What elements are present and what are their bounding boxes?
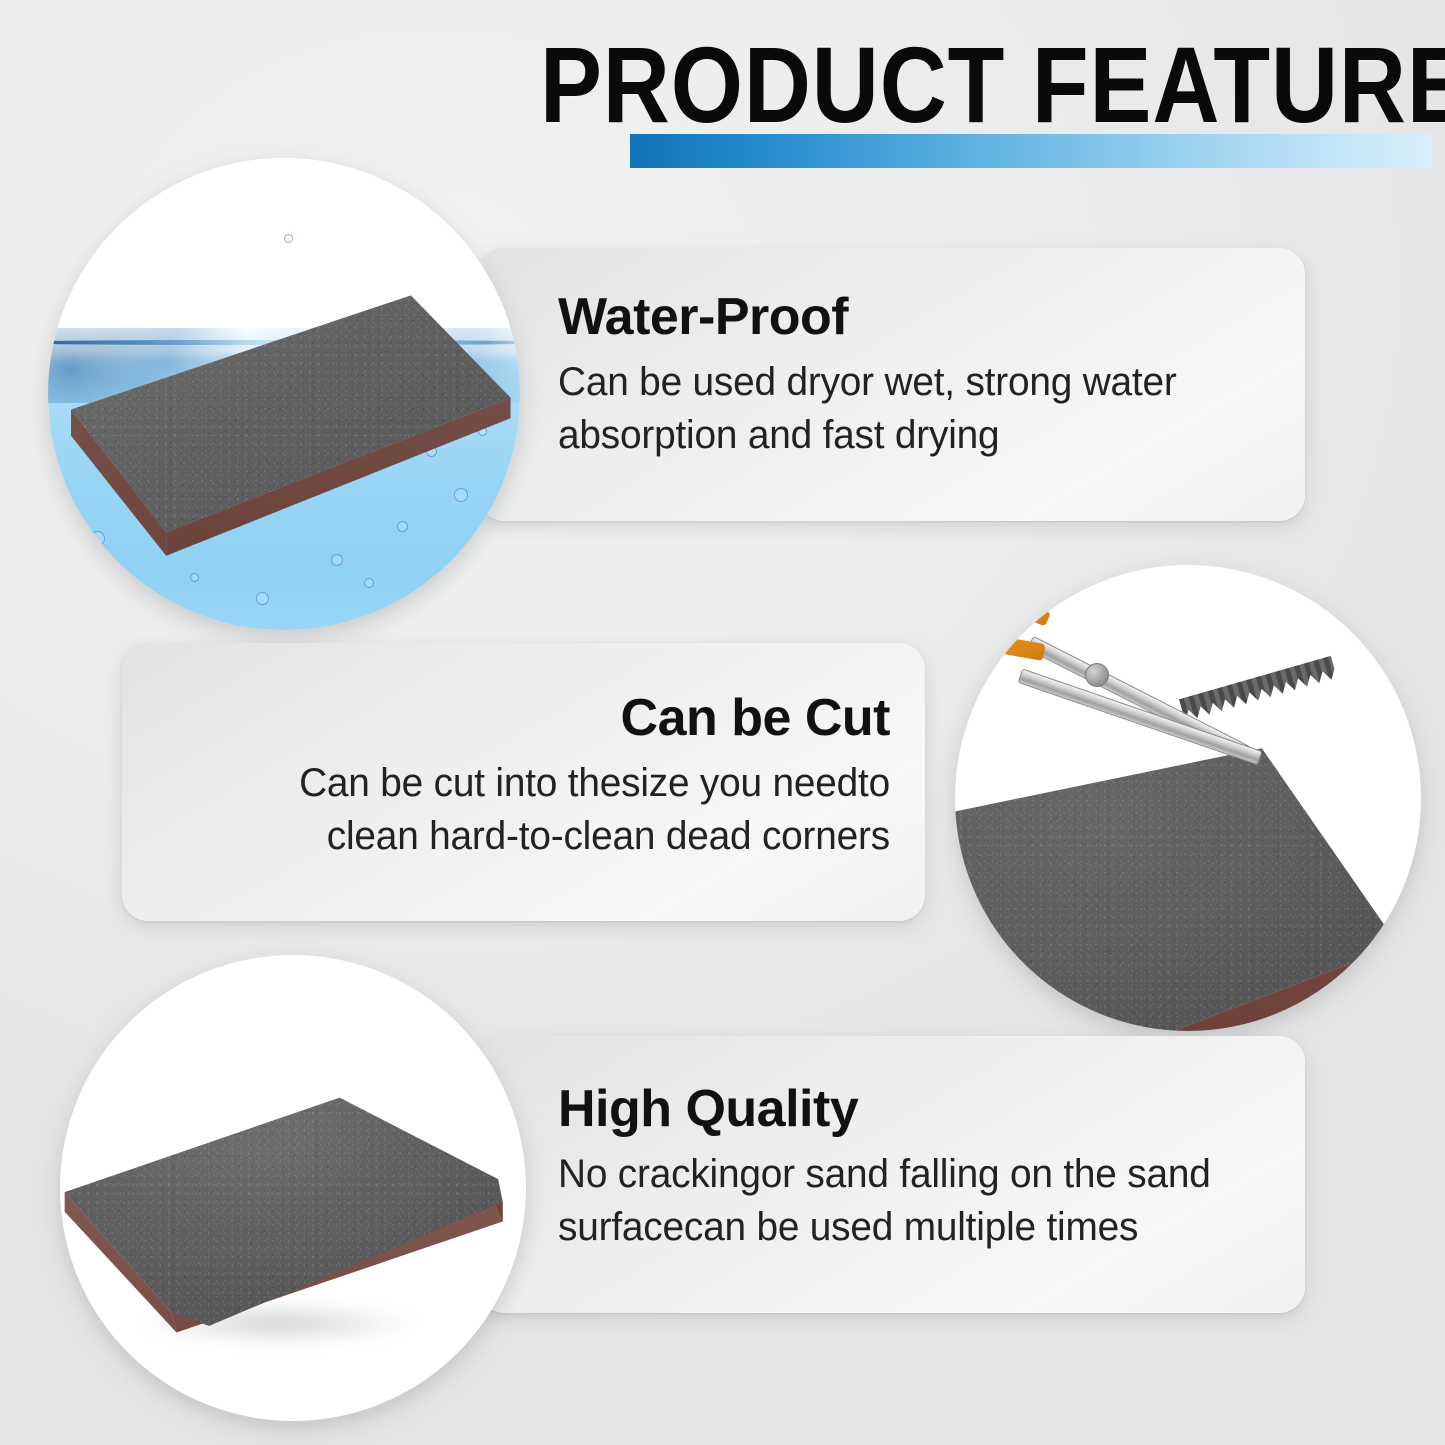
feature-heading-water-proof: Water-Proof <box>558 288 1278 346</box>
curved-sanding-sponge <box>60 1039 526 1365</box>
feature-card-water-proof: Water-Proof Can be used dryor wet, stron… <box>478 248 1305 521</box>
feature-body-line-1-water-proof: Can be used dryor wet, strong water <box>558 356 1256 409</box>
feature-body-line-2-water-proof: absorption and fast drying <box>558 409 1256 462</box>
curved-sanding-sponge-photo <box>60 955 526 1421</box>
bubble-icon <box>284 234 293 243</box>
feature-card-can-be-cut: Can be Cut Can be cut into thesize you n… <box>122 643 925 921</box>
sponge-abrasive-face <box>60 1039 526 1365</box>
water-scene <box>48 158 520 630</box>
scissors-cutting-sponge-photo <box>955 565 1421 1031</box>
feature-body-line-2-can-be-cut: clean hard-to-clean dead corners <box>172 810 890 863</box>
cut-scene <box>955 565 1421 1031</box>
feature-text-water-proof: Water-Proof Can be used dryor wet, stron… <box>558 288 1278 462</box>
scissor-handle-upper <box>968 581 1051 626</box>
page-title: PRODUCT FEATURE <box>540 30 1314 140</box>
feature-text-high-quality: High Quality No crackingor sand falling … <box>558 1080 1288 1254</box>
feature-heading-high-quality: High Quality <box>558 1080 1288 1138</box>
sanding-sponge-slab <box>57 281 510 574</box>
bubble-icon <box>190 573 199 582</box>
product-feature-infographic: PRODUCT FEATURE Water-Proof Can be used … <box>0 0 1445 1445</box>
feature-body-line-1-can-be-cut: Can be cut into thesize you needto <box>172 757 890 810</box>
feature-body-line-1-high-quality: No crackingor sand falling on the sand <box>558 1148 1266 1201</box>
feature-text-can-be-cut: Can be Cut Can be cut into thesize you n… <box>150 689 890 863</box>
feature-heading-can-be-cut: Can be Cut <box>150 689 890 747</box>
feature-body-line-2-high-quality: surfacecan be used multiple times <box>558 1201 1266 1254</box>
sponge-in-water-photo <box>48 158 520 630</box>
feature-card-high-quality: High Quality No crackingor sand falling … <box>478 1036 1305 1313</box>
sheet-scene <box>60 955 526 1421</box>
sanding-sponge-sheet <box>955 691 1421 1031</box>
grain-texture <box>60 1039 526 1365</box>
bubble-icon <box>256 592 269 605</box>
